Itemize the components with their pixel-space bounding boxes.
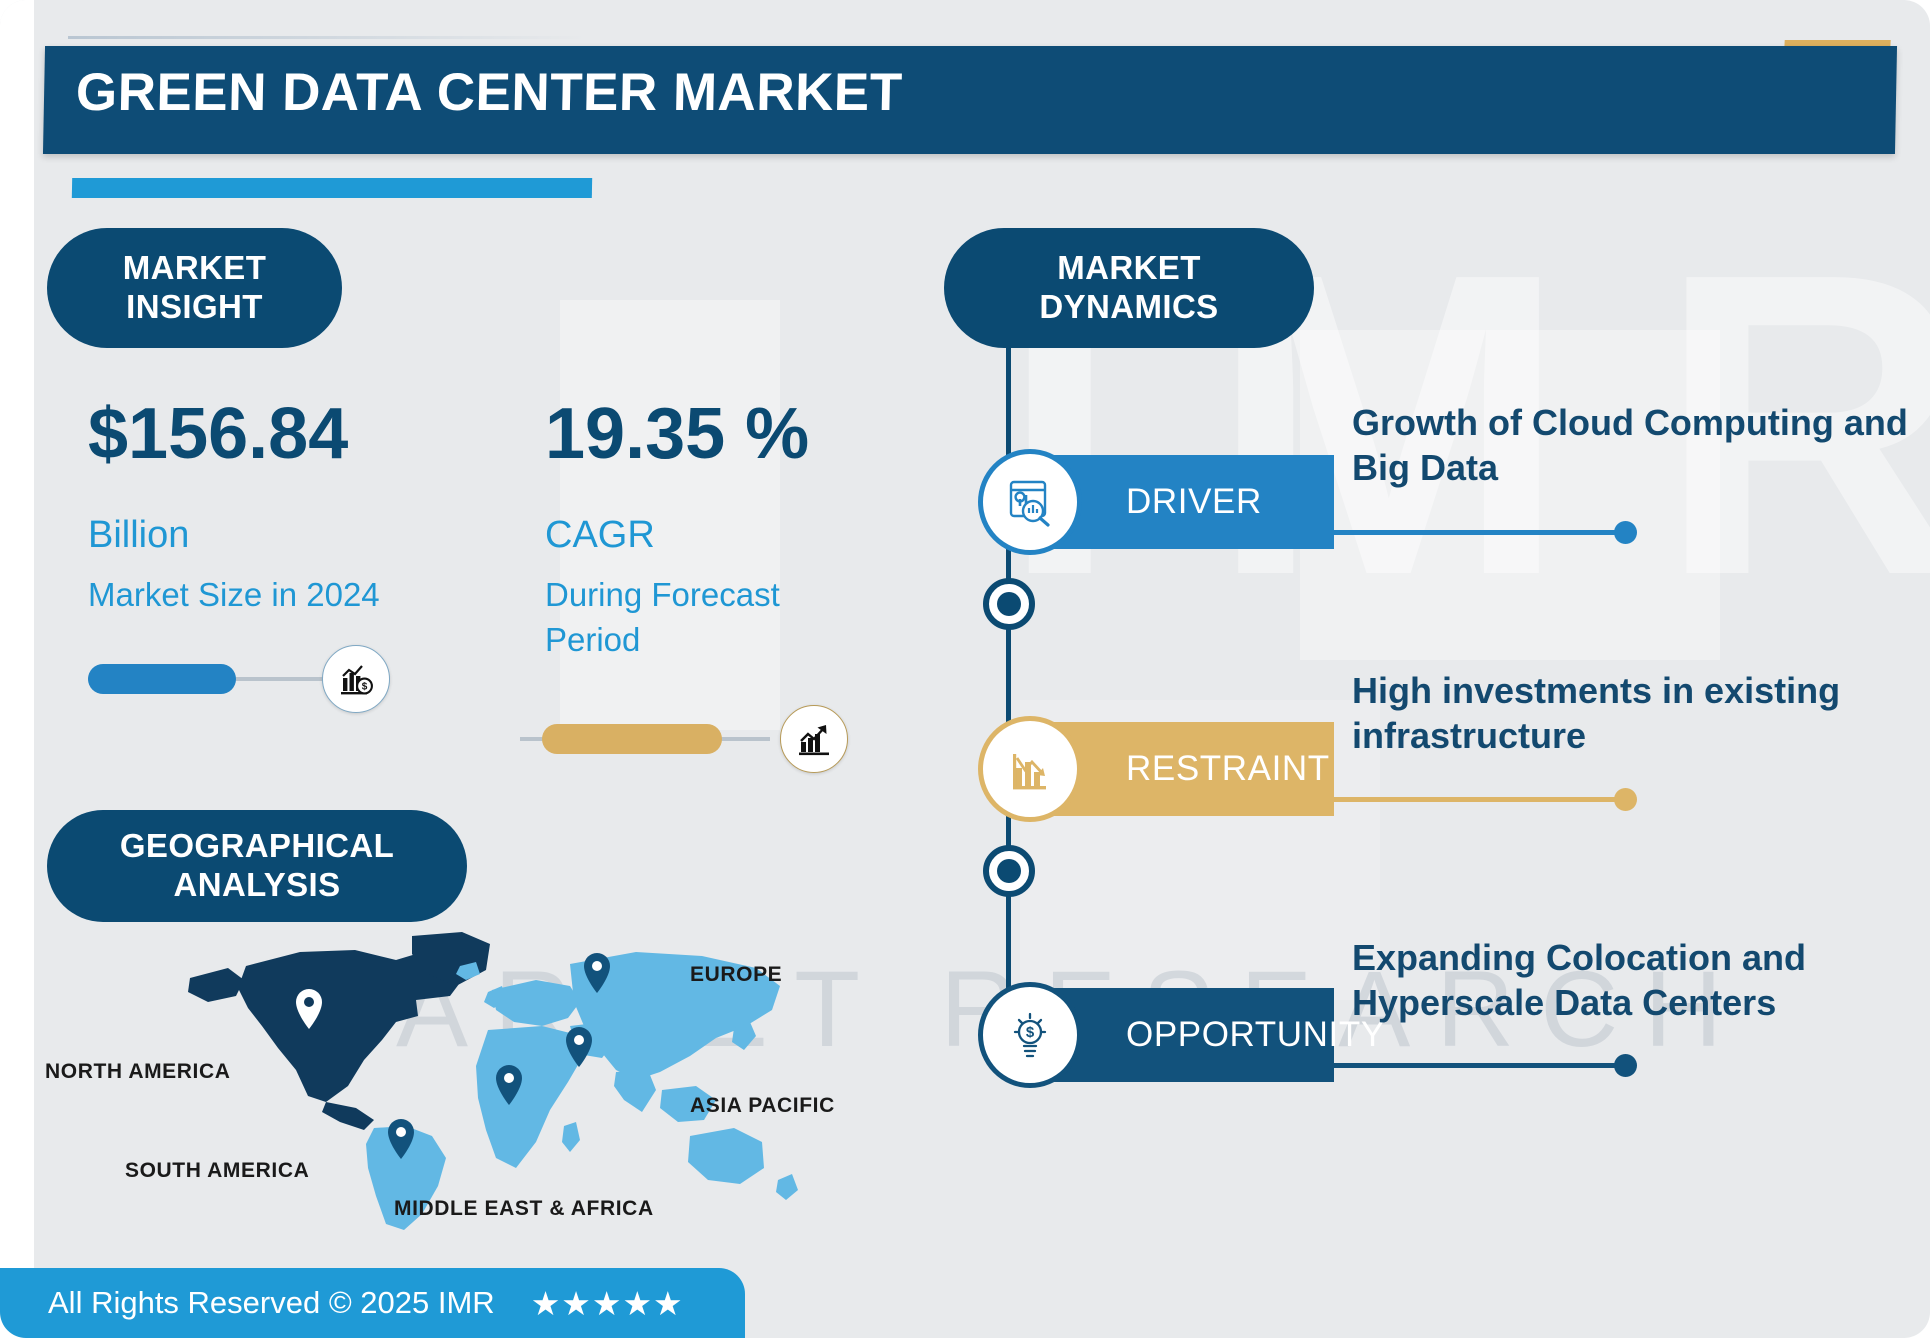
growth-arrow-chart-icon xyxy=(780,705,848,773)
dynamics-row-opportunity[interactable]: OPPORTUNITY $ xyxy=(1008,988,1334,1082)
restraint-connector-line xyxy=(1334,797,1626,802)
map-label-europe: EUROPE xyxy=(690,963,782,987)
metric-value: $156.84 xyxy=(88,398,380,470)
copyright-text: All Rights Reserved © 2025 IMR xyxy=(48,1285,495,1321)
market-dynamics-badge: MARKETDYNAMICS xyxy=(944,228,1314,348)
map-label-north-america: NORTH AMERICA xyxy=(45,1060,231,1084)
metric-caption: During Forecast Period xyxy=(545,573,875,662)
metric-cagr: 19.35 % CAGR During Forecast Period xyxy=(545,398,875,662)
map-region-new-zealand xyxy=(776,1174,798,1200)
restraint-connector-dot xyxy=(1614,788,1637,811)
lightbulb-dollar-icon: $ xyxy=(978,982,1082,1088)
map-region-central-america xyxy=(322,1102,374,1130)
metric-unit: Billion xyxy=(88,514,380,557)
geographical-analysis-badge-label: GEOGRAPHICALANALYSIS xyxy=(120,827,394,905)
progress-fill xyxy=(88,664,236,694)
dynamics-row-driver[interactable]: DRIVER xyxy=(1008,455,1334,549)
map-region-alaska xyxy=(188,968,244,1002)
opportunity-connector-line xyxy=(1334,1063,1626,1068)
svg-text:$: $ xyxy=(362,682,368,693)
timeline-node xyxy=(983,578,1035,630)
header-accent-line xyxy=(68,36,588,39)
timeline-node xyxy=(983,845,1035,897)
bar-chart-dollar-icon: $ xyxy=(322,645,390,713)
dashboard-magnifier-icon xyxy=(978,449,1082,555)
restraint-label: RESTRAINT xyxy=(1126,749,1330,789)
metric-caption: Market Size in 2024 xyxy=(88,573,380,618)
header-underline-bar xyxy=(72,178,592,198)
opportunity-description: Expanding Colocation and Hyperscale Data… xyxy=(1352,935,1918,1026)
opportunity-connector-dot xyxy=(1614,1054,1637,1077)
driver-label: DRIVER xyxy=(1126,482,1262,522)
market-size-progress-bar xyxy=(88,677,338,681)
map-region-madagascar xyxy=(562,1122,580,1152)
map-region-australia xyxy=(688,1128,764,1184)
metric-unit: CAGR xyxy=(545,514,875,557)
metric-market-size: $156.84 Billion Market Size in 2024 xyxy=(88,398,380,618)
driver-connector-dot xyxy=(1614,521,1637,544)
page-title: GREEN DATA CENTER MARKET xyxy=(75,62,903,123)
market-insight-badge: MARKETINSIGHT xyxy=(47,228,342,348)
star-rating: ★★★★★ xyxy=(531,1284,684,1323)
driver-connector-line xyxy=(1334,530,1626,535)
dynamics-row-restraint[interactable]: RESTRAINT xyxy=(1008,722,1334,816)
restraint-description: High investments in existing infrastruct… xyxy=(1352,668,1918,759)
metric-value: 19.35 % xyxy=(545,398,875,470)
map-region-europe xyxy=(492,980,580,1026)
market-dynamics-badge-label: MARKETDYNAMICS xyxy=(1039,249,1218,327)
map-label-middle-east-africa: MIDDLE EAST & AFRICA xyxy=(394,1197,654,1221)
map-label-south-america: SOUTH AMERICA xyxy=(125,1159,309,1183)
opportunity-label: OPPORTUNITY xyxy=(1126,1015,1385,1055)
declining-bar-chart-icon xyxy=(978,716,1082,822)
driver-description: Growth of Cloud Computing and Big Data xyxy=(1352,400,1918,491)
footer-bar: All Rights Reserved © 2025 IMR ★★★★★ xyxy=(0,1268,745,1338)
svg-text:$: $ xyxy=(1026,1024,1035,1041)
map-region-india xyxy=(614,1070,656,1112)
infographic-canvas: IMR MARKET RESEARCH GREEN DATA CENTER MA… xyxy=(0,0,1930,1338)
progress-fill xyxy=(542,724,722,754)
market-insight-badge-label: MARKETINSIGHT xyxy=(123,249,267,327)
cagr-progress-bar xyxy=(520,737,770,741)
geographical-analysis-badge: GEOGRAPHICALANALYSIS xyxy=(47,810,467,922)
map-label-asia-pacific: ASIA PACIFIC xyxy=(690,1094,835,1118)
